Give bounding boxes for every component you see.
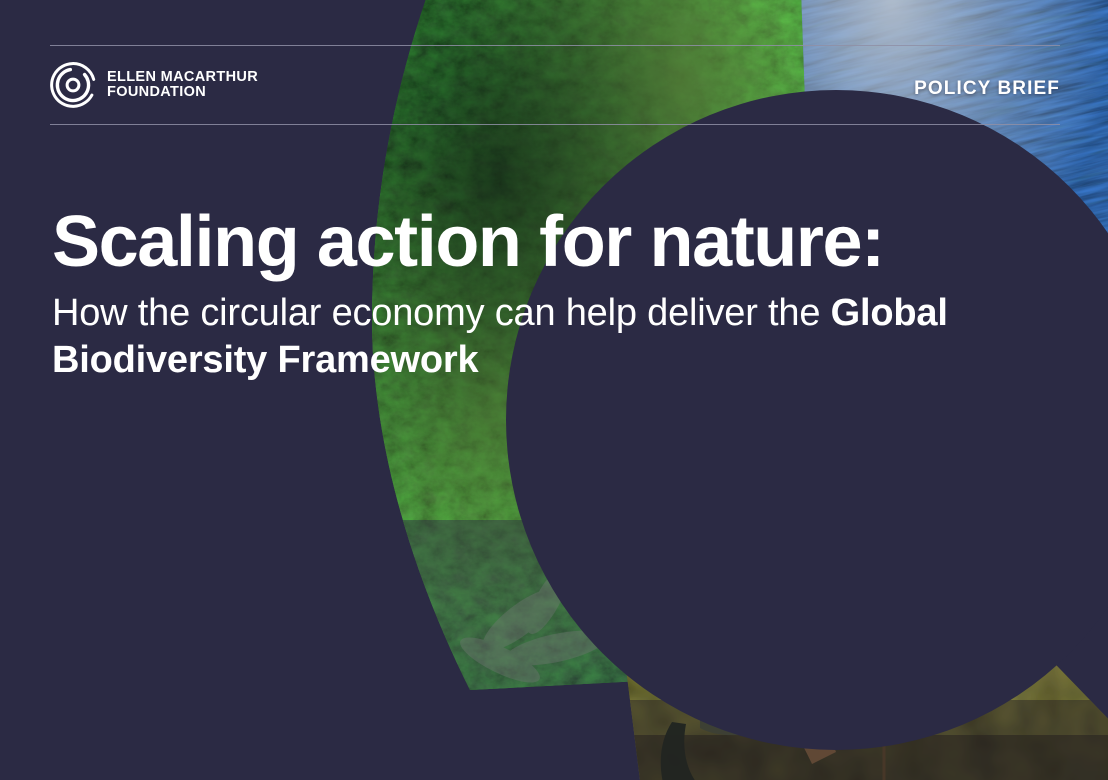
emf-circle-mark (50, 62, 96, 108)
header-rule-top (50, 45, 1060, 46)
document-kind-label: POLICY BRIEF (914, 78, 1060, 100)
page-title: Scaling action for nature: (52, 204, 884, 280)
policy-brief-cover: ELLEN MACARTHUR FOUNDATION POLICY BRIEF … (0, 0, 1108, 780)
emf-wordmark: ELLEN MACARTHUR FOUNDATION (107, 70, 258, 101)
ellen-macarthur-foundation-logo[interactable]: ELLEN MACARTHUR FOUNDATION (50, 62, 258, 108)
emf-wordmark-line2: FOUNDATION (107, 85, 258, 101)
header-rule-bottom (50, 124, 1060, 125)
subtitle-lead: How the circular economy can help delive… (52, 292, 831, 334)
emf-wordmark-line1: ELLEN MACARTHUR (107, 70, 258, 86)
cover-artwork (0, 0, 1108, 780)
page-subtitle: How the circular economy can help delive… (52, 290, 952, 384)
